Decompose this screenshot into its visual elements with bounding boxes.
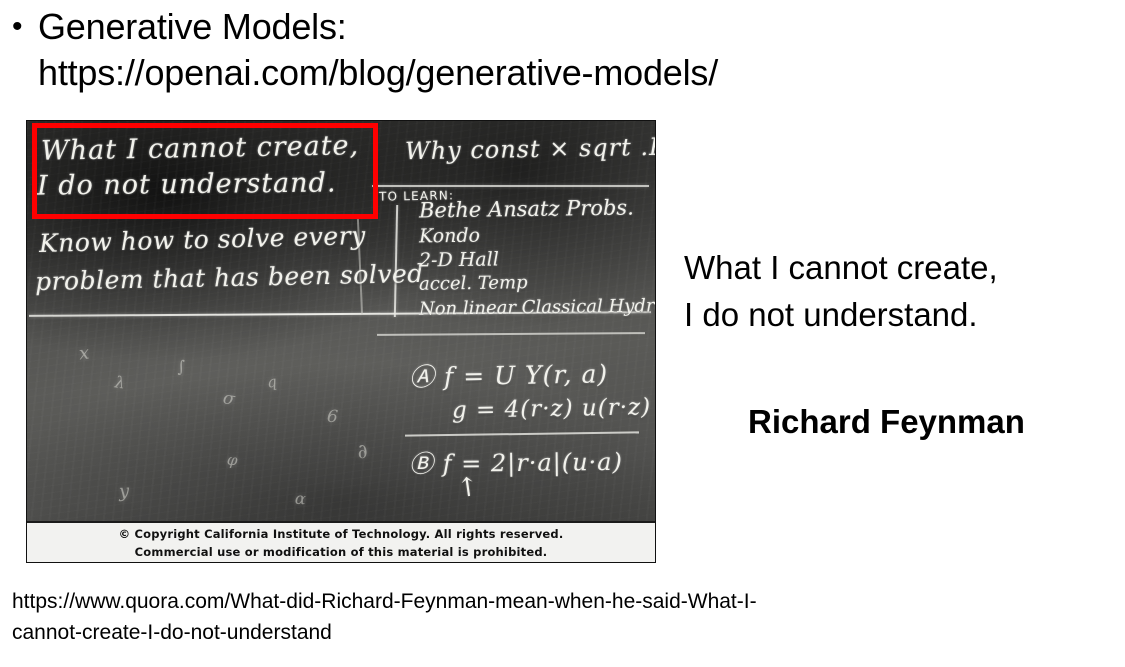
chalk-equation-divider (405, 431, 639, 436)
generative-models-link[interactable]: https://openai.com/blog/generative-model… (38, 50, 1010, 96)
chalk-horizontal-rule-lower-right (377, 332, 645, 336)
source-url-line-1: https://www.quora.com/What-did-Richard-F… (12, 590, 757, 613)
chalk-know-line-2: problem that has been solved (35, 259, 424, 296)
chalk-why-line: Why const × sqrt .P (405, 133, 656, 166)
feynman-blackboard-image: What I cannot create, I do not understan… (26, 120, 656, 563)
chalk-to-learn-item-3: 2-D Hall (419, 248, 499, 271)
chalk-smudge: φ (226, 450, 238, 469)
chalk-smudge: ∂ (355, 438, 370, 464)
copyright-caption: © Copyright California Institute of Tech… (27, 521, 655, 562)
bullet-text: Generative Models: https://openai.com/bl… (38, 4, 1010, 96)
chalk-up-arrow-icon: ↑ (455, 472, 481, 505)
copyright-line-1: © Copyright California Institute of Tech… (27, 525, 655, 543)
blackboard-surface: What I cannot create, I do not understan… (27, 121, 655, 523)
source-url-line-2: cannot-create-I-do-not-understand (12, 617, 1117, 648)
chalk-smudge: λ (114, 372, 127, 392)
bullet-block: • Generative Models: https://openai.com/… (10, 4, 1010, 96)
chalk-to-learn-item-5: Non linear Classical Hydro (419, 295, 656, 319)
bullet-marker-icon: • (10, 4, 38, 50)
chalk-smudge: α (294, 489, 306, 509)
chalk-smudge: ∫ (176, 357, 186, 377)
chalk-equation-3: Ⓑ f = 2|r·a|(u·a) (409, 442, 623, 479)
chalk-know-line-1: Know how to solve every (39, 221, 366, 258)
chalk-smudge: q (266, 372, 278, 391)
feynman-quote: What I cannot create, I do not understan… (684, 244, 1114, 338)
bullet-line-1: Generative Models: (38, 6, 347, 47)
chalk-equation-1: Ⓐ f = U Y(r, a) (409, 354, 609, 393)
red-highlight-box (32, 123, 378, 219)
chalk-to-learn-item-2: Kondo (419, 225, 480, 248)
quote-line-1: What I cannot create, (684, 244, 1114, 291)
chalk-to-learn-item-1: Bethe Ansatz Probs. (419, 196, 634, 223)
chalk-equation-2: g = 4(r·z) u(r·z) (452, 394, 652, 423)
chalk-to-learn-item-4: accel. Temp (419, 272, 528, 295)
chalk-vertical-divider (394, 205, 398, 317)
chalk-vertical-divider-secondary (357, 219, 363, 315)
quote-line-2: I do not understand. (684, 291, 1114, 338)
chalk-smudge: σ (221, 388, 236, 410)
chalk-smudge: 6 (326, 407, 339, 428)
quote-attribution: Richard Feynman (748, 400, 1025, 444)
chalk-horizontal-rule-upper-right (372, 185, 649, 187)
chalk-horizontal-rule (29, 311, 651, 317)
copyright-line-2: Commercial use or modification of this m… (27, 543, 655, 561)
chalk-to-learn-header: TO LEARN: (379, 188, 454, 203)
chalk-smudge: y (118, 481, 129, 503)
bullet-row: • Generative Models: https://openai.com/… (10, 4, 1010, 96)
source-url[interactable]: https://www.quora.com/What-did-Richard-F… (12, 586, 1117, 648)
chalk-smudge: x (78, 343, 90, 365)
